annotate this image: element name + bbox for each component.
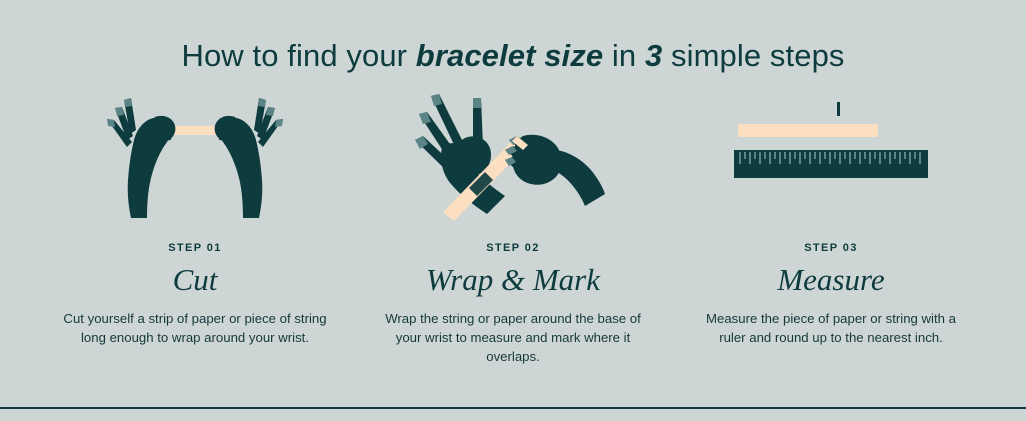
title-emphasis: bracelet size <box>416 38 603 73</box>
title-part-3: simple steps <box>662 38 844 73</box>
step-3-title: Measure <box>777 264 884 295</box>
steps-container: STEP 01 Cut Cut yourself a strip of pape… <box>0 84 1026 366</box>
title-step-count: 3 <box>645 38 662 73</box>
step-column-3: STEP 03 Measure Measure the piece of pap… <box>672 84 990 366</box>
step-2-illustration <box>354 84 672 234</box>
bracelet-size-infographic: How to find your bracelet size in 3 simp… <box>0 0 1026 421</box>
step-2-description: Wrap the string or paper around the base… <box>379 309 647 366</box>
step-1-illustration <box>36 84 354 234</box>
paper-strip-with-ruler-icon <box>731 84 931 234</box>
step-2-label: STEP 02 <box>486 242 540 254</box>
page-title: How to find your bracelet size in 3 simp… <box>0 0 1026 74</box>
step-1-description: Cut yourself a strip of paper or piece o… <box>61 309 329 347</box>
step-column-1: STEP 01 Cut Cut yourself a strip of pape… <box>36 84 354 366</box>
step-1-title: Cut <box>173 264 218 295</box>
step-2-title: Wrap & Mark <box>426 264 600 295</box>
step-3-description: Measure the piece of paper or string wit… <box>697 309 965 347</box>
two-hands-holding-paper-strip-icon <box>95 84 295 234</box>
step-3-illustration <box>672 84 990 234</box>
hand-wrapping-strip-around-wrist-icon <box>413 84 613 234</box>
step-1-label: STEP 01 <box>168 242 222 254</box>
step-column-2: STEP 02 Wrap & Mark Wrap the string or p… <box>354 84 672 366</box>
title-part-2: in <box>603 38 645 73</box>
step-3-label: STEP 03 <box>804 242 858 254</box>
measure-mark-tick <box>837 102 840 116</box>
footer-divider <box>0 407 1026 409</box>
paper-strip <box>738 124 878 137</box>
title-part-1: How to find your <box>181 38 415 73</box>
